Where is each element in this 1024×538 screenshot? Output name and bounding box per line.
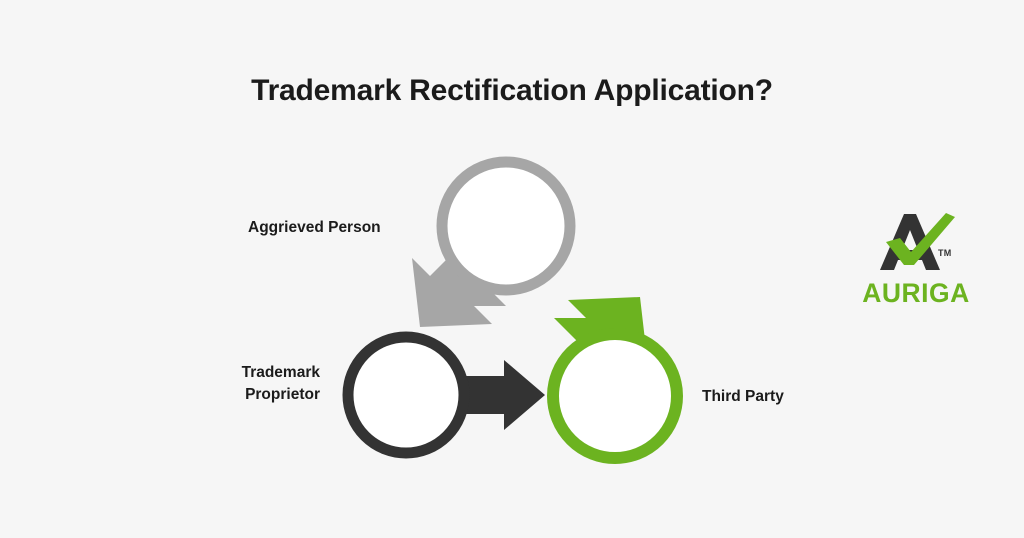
node-circle-aggrieved-person xyxy=(442,162,570,290)
node-label-trademark-proprietor: Trademark Proprietor xyxy=(185,362,320,407)
node-circle-trademark-proprietor xyxy=(348,337,464,453)
node-circle-third-party xyxy=(553,334,677,458)
brand-wordmark: AURIGA xyxy=(858,278,974,309)
node-label-aggrieved-person: Aggrieved Person xyxy=(248,217,381,239)
infographic-canvas: Trademark Rectification Application? Agg… xyxy=(0,0,1024,538)
trademark-symbol: TM xyxy=(938,248,951,258)
auriga-logo-icon xyxy=(874,212,958,272)
brand-logo: TM AURIGA xyxy=(858,212,974,310)
node-label-third-party: Third Party xyxy=(702,386,784,408)
